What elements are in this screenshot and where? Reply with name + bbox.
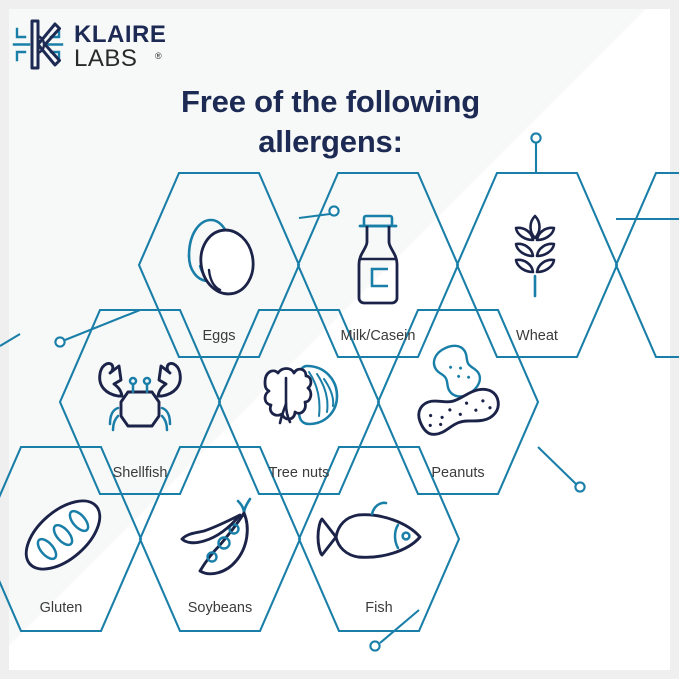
eggs-icon <box>189 220 257 297</box>
connector-dot-eggs-upper <box>329 206 338 215</box>
milk-bottle-icon <box>359 216 397 303</box>
hex-label-milk-casein: Milk/Casein <box>341 328 416 344</box>
bread-loaf-icon <box>14 488 112 582</box>
hex-label-shellfish: Shellfish <box>113 465 168 481</box>
allergen-infographic: KLAIRE LABS ® Free of the following alle… <box>0 0 679 679</box>
soy-pod-icon <box>182 499 250 574</box>
hex-label-fish: Fish <box>365 600 392 616</box>
crab-icon <box>100 363 181 430</box>
walnut-almond-icon <box>265 366 337 424</box>
connector-dot-left-mid <box>55 337 64 346</box>
connector-stem-eggs-upper <box>299 214 330 218</box>
hex-cell-edge-right-row1 <box>616 173 679 357</box>
peanut-icon <box>414 340 503 443</box>
connector-dot-bottom <box>370 641 379 650</box>
connector-stem-left-mid <box>65 310 140 340</box>
hex-label-gluten: Gluten <box>40 600 83 616</box>
hex-label-peanuts: Peanuts <box>431 465 484 481</box>
wheat-icon <box>516 216 554 296</box>
hex-label-tree-nuts: Tree nuts <box>269 465 330 481</box>
fish-icon <box>318 503 420 557</box>
hex-label-eggs: Eggs <box>202 328 235 344</box>
edge-tail-left <box>0 334 20 346</box>
hex-label-soybeans: Soybeans <box>188 600 253 616</box>
connector-lines <box>0 143 679 643</box>
connector-dot-top-right <box>531 133 540 142</box>
hex-label-wheat: Wheat <box>516 328 558 344</box>
connector-stem-right-lower <box>538 447 576 484</box>
connector-dot-right-lower <box>575 482 584 491</box>
hexagon-grid: Eggs Milk/Casein Wheat <box>0 0 679 679</box>
hexagon-outlines <box>0 173 679 631</box>
